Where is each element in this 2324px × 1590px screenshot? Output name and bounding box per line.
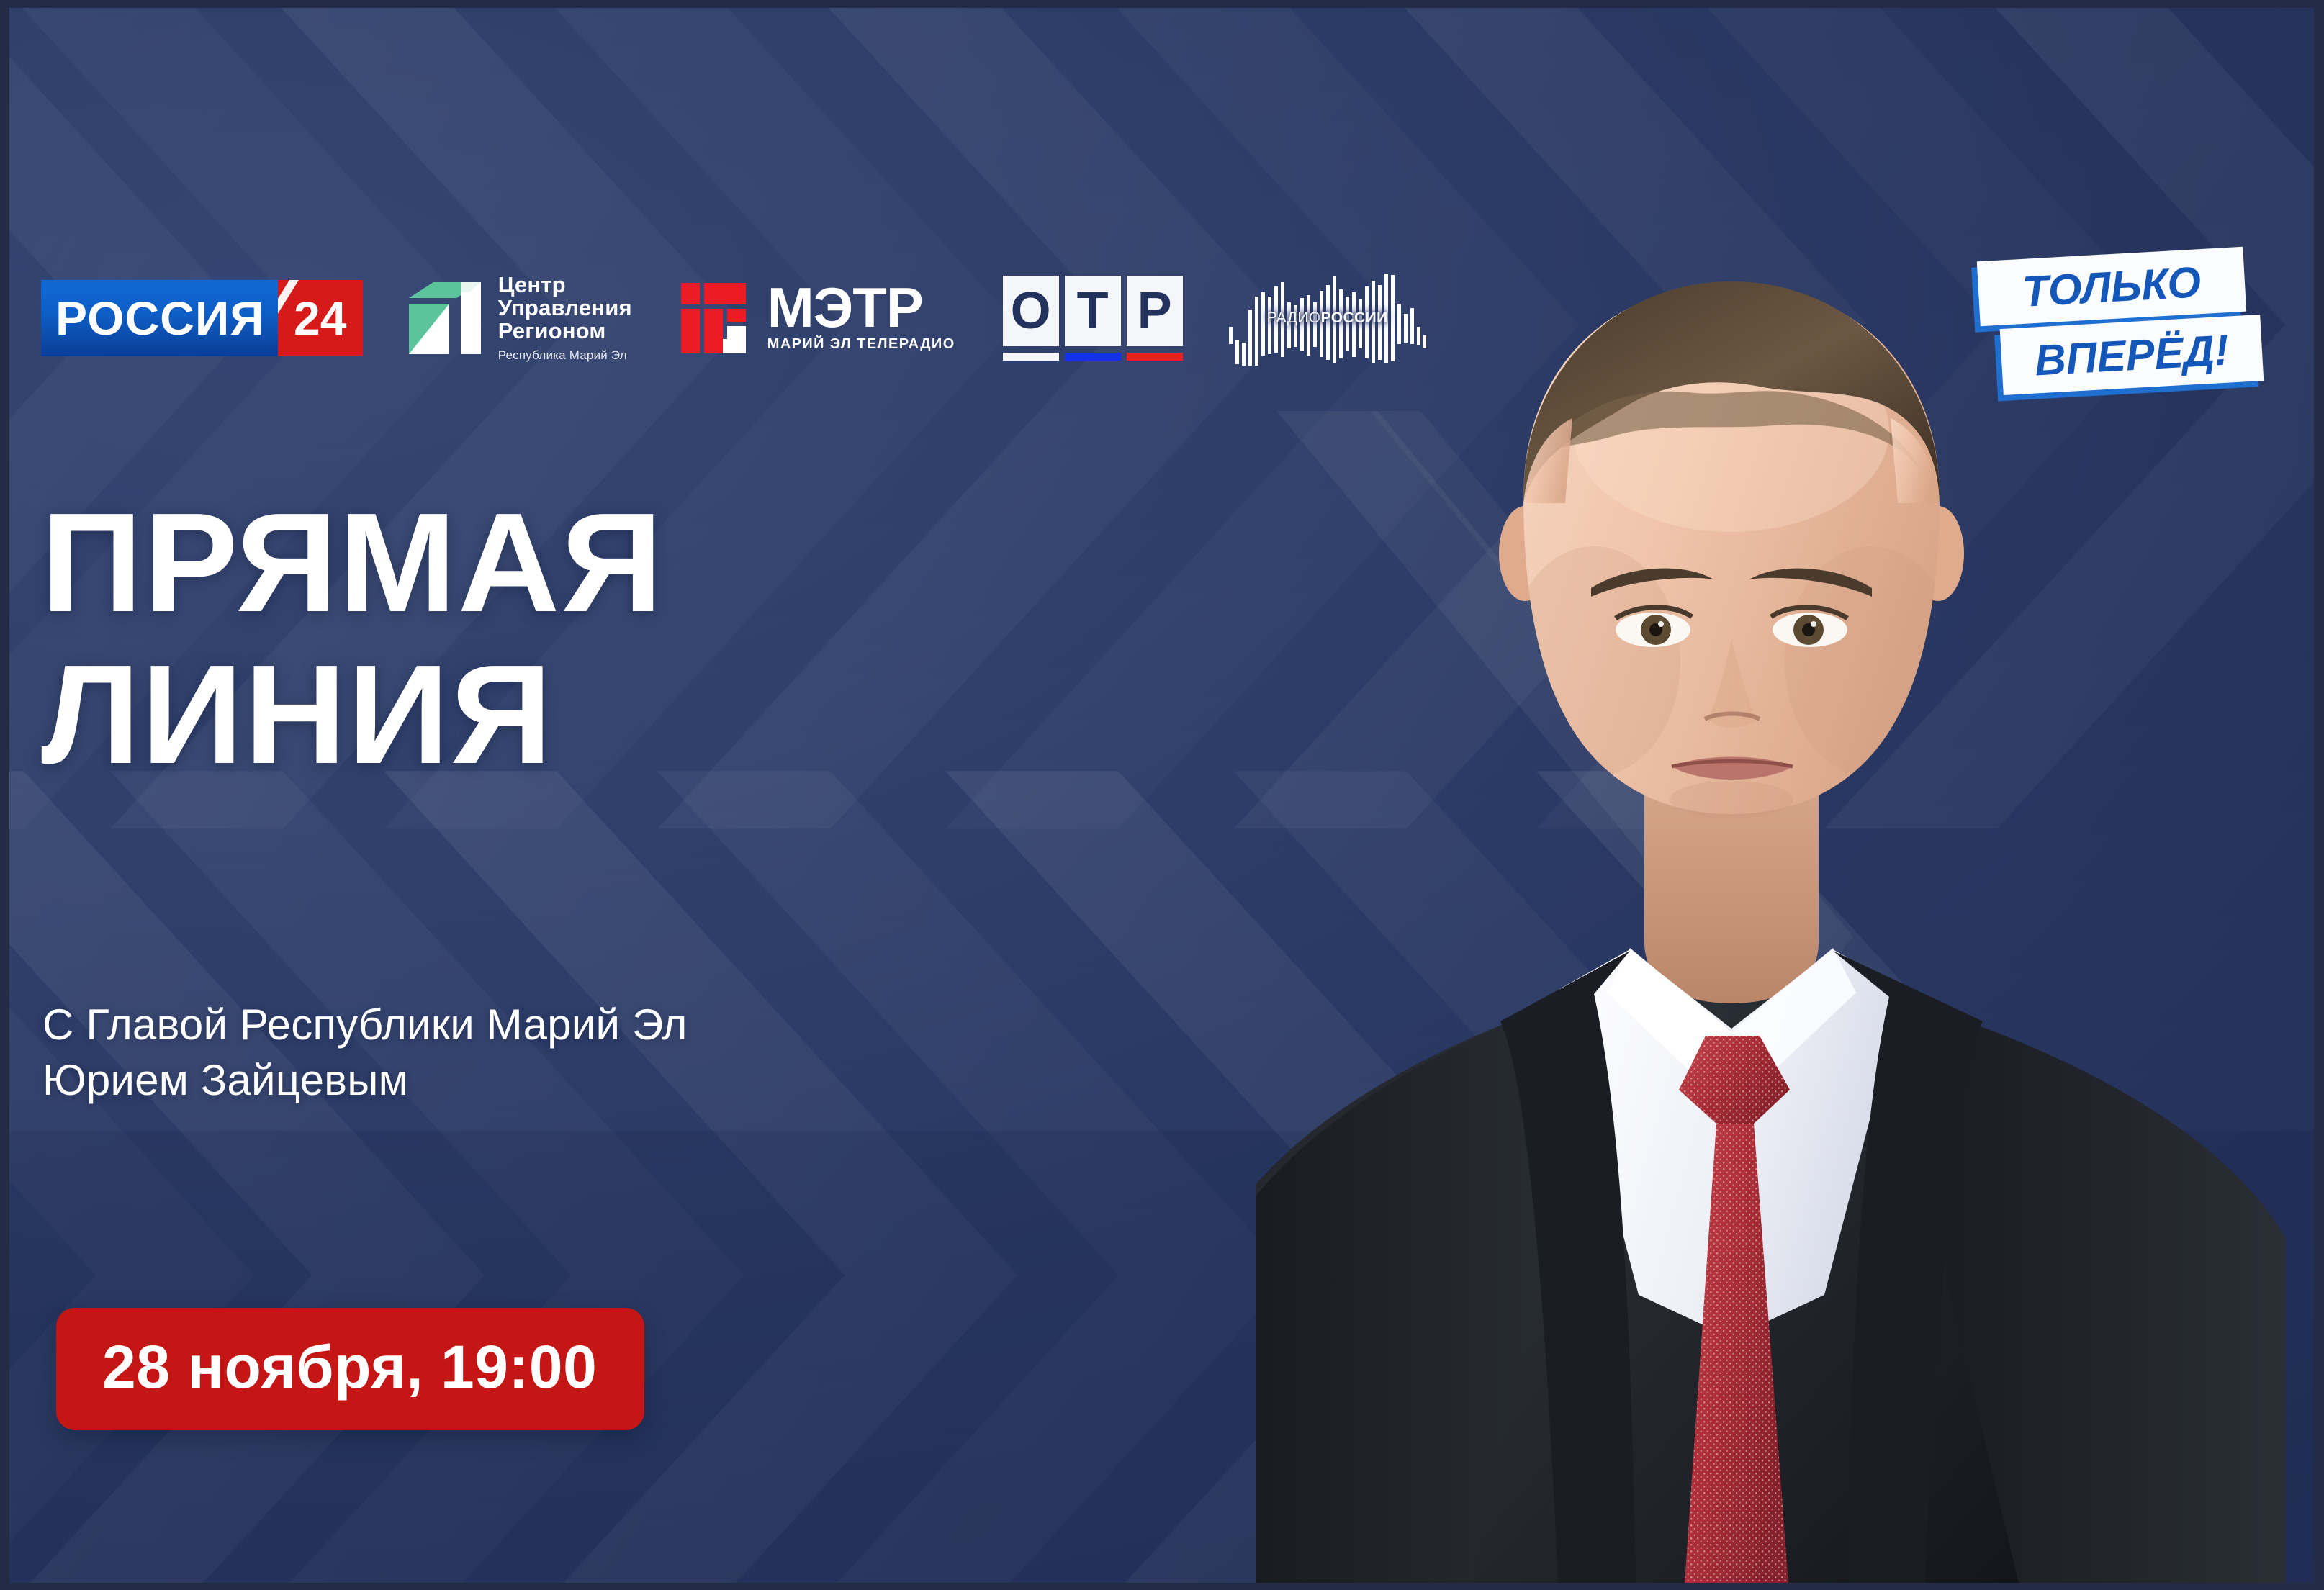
date-badge: 28 ноября, 19:00 bbox=[56, 1308, 644, 1430]
cur-line-1: Центр bbox=[498, 274, 632, 297]
rossiya-24-word: РОССИЯ bbox=[41, 280, 278, 356]
portrait-photo bbox=[1256, 215, 2314, 1583]
cur-text-block: Центр Управления Регионом Республика Мар… bbox=[498, 274, 632, 363]
radio-caption-bold: РОССИИ bbox=[1321, 310, 1388, 326]
headline-line-2: ЛИНИЯ bbox=[41, 660, 664, 770]
subtitle-line-2: Юрием Зайцевым bbox=[42, 1053, 688, 1108]
metr-mark-icon bbox=[680, 279, 757, 358]
otp-letter-p: Р bbox=[1127, 276, 1183, 346]
otp-bar-blue bbox=[1065, 353, 1121, 361]
cur-line-2: Управления bbox=[498, 297, 632, 320]
cur-line-3: Регионом bbox=[498, 320, 632, 343]
metr-subtitle: МАРИЙ ЭЛ ТЕЛЕРАДИО bbox=[767, 336, 955, 353]
otp-bar-white bbox=[1003, 353, 1059, 361]
metr-logo[interactable]: МЭТР МАРИЙ ЭЛ ТЕЛЕРАДИО bbox=[680, 279, 955, 358]
otp-cell-p: Р bbox=[1127, 276, 1183, 361]
cur-logo[interactable]: Центр Управления Регионом Республика Мар… bbox=[405, 274, 632, 363]
poster-canvas: РОССИЯ 24 Центр Управления bbox=[9, 8, 2314, 1583]
broadcaster-logo-row: РОССИЯ 24 Центр Управления bbox=[41, 271, 1428, 365]
subtitle-line-1: С Главой Республики Марий Эл bbox=[42, 998, 688, 1053]
otp-letter-t: Т bbox=[1065, 276, 1121, 346]
otp-letter-o: О bbox=[1003, 276, 1059, 346]
radio-rossii-logo[interactable]: РАДИОРОССИИ bbox=[1228, 271, 1428, 366]
otp-logo[interactable]: О Т Р bbox=[1003, 276, 1183, 361]
page-title: ПРЯМАЯ ЛИНИЯ bbox=[41, 508, 664, 770]
otp-cell-t: Т bbox=[1065, 276, 1121, 361]
rossiya-24-logo[interactable]: РОССИЯ 24 bbox=[41, 280, 363, 356]
headline-line-1: ПРЯМАЯ bbox=[41, 484, 664, 641]
cur-subtitle: Республика Марий Эл bbox=[498, 348, 632, 363]
radio-rossii-caption: РАДИОРОССИИ bbox=[1228, 310, 1428, 327]
tolko-vperyod-line-2: ВПЕРЁД! bbox=[2000, 315, 2264, 395]
otp-cell-o: О bbox=[1003, 276, 1059, 361]
metr-title: МЭТР bbox=[767, 284, 955, 332]
metr-text-block: МЭТР МАРИЙ ЭЛ ТЕЛЕРАДИО bbox=[767, 284, 955, 353]
page-subtitle: С Главой Республики Марий Эл Юрием Зайце… bbox=[42, 998, 688, 1108]
cur-cube-icon bbox=[405, 279, 485, 357]
radio-caption-light: РАДИО bbox=[1267, 310, 1321, 326]
poster-frame: РОССИЯ 24 Центр Управления bbox=[0, 0, 2324, 1590]
tolko-vperyod-logo[interactable]: ТОЛЬКО ВПЕРЁД! bbox=[1974, 251, 2262, 395]
otp-bar-red bbox=[1127, 353, 1183, 361]
rossiya-24-number: 24 bbox=[278, 280, 363, 356]
tolko-vperyod-line-1: ТОЛЬКО bbox=[1977, 247, 2246, 327]
